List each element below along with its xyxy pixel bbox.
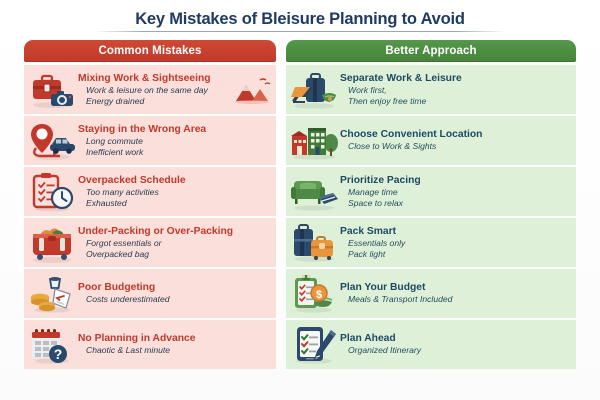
list-item-text: Overpacked Schedule Too many activities … [78,175,276,208]
list-item[interactable]: Plan Ahead Organized Itinerary [286,320,576,369]
list-item[interactable]: Choose Convenient Location Close to Work… [286,116,576,165]
sofa-book-icon [286,169,340,215]
list-item-sub: Costs underestimated [78,294,270,305]
list-item-sub: Manage time Space to relax [340,187,570,208]
list-item-title: Prioritize Pacing [340,175,570,187]
column-common-mistakes: Common Mistakes [24,40,276,371]
list-item[interactable]: Separate Work & Leisure Work first, Then… [286,65,576,114]
suitcase-deckchair-icon [286,67,340,113]
title-underline [95,31,505,32]
list-item-sub: Close to Work & Sights [340,141,570,152]
overstuffed-suitcase-icon [24,220,78,266]
list-item-text: Separate Work & Leisure Work first, Then… [340,73,576,106]
coins-receipt-icon [24,271,78,317]
list-item-text: No Planning in Advance Chaotic & Last mi… [78,333,276,356]
list-item[interactable]: Poor Budgeting Costs underestimated [24,269,276,318]
page-title-wrap: Key Mistakes of Bleisure Planning to Avo… [0,9,600,29]
list-item-text: Pack Smart Essentials only Pack light [340,226,576,259]
list-item-sub: Organized Itinerary [340,345,570,356]
list-item[interactable]: Overpacked Schedule Too many activities … [24,167,276,216]
svg-text:$: $ [316,289,322,301]
list-item-sub: Work & leisure on the same day Energy dr… [78,85,226,106]
list-item[interactable]: Pack Smart Essentials only Pack light [286,218,576,267]
list-item-title: Staying in the Wrong Area [78,124,270,136]
buildings-icon [286,118,340,164]
column-header-common-mistakes: Common Mistakes [24,40,276,62]
briefcase-camera-icon [24,67,78,113]
list-item-sub: Work first, Then enjoy free time [340,85,570,106]
list-item-title: Mixing Work & Sightseeing [78,73,226,85]
list-item-sub: Meals & Transport Included [340,294,570,305]
calendar-question-icon: ? [24,322,78,368]
clipboard-coin-icon: $ [286,271,340,317]
list-item[interactable]: Prioritize Pacing Manage time Space to r… [286,167,576,216]
list-item-title: Separate Work & Leisure [340,73,570,85]
list-item-title: No Planning in Advance [78,333,270,345]
clipboard-clock-icon [24,169,78,215]
list-item-sub: Chaotic & Last minute [78,345,270,356]
list-item[interactable]: Staying in the Wrong Area Long commute I… [24,116,276,165]
rows-better-approach: Separate Work & Leisure Work first, Then… [286,65,576,369]
column-header-better-approach: Better Approach [286,40,576,62]
svg-text:?: ? [54,346,63,362]
list-item-sub: Long commute Inefficient work [78,136,270,157]
infographic-canvas: Key Mistakes of Bleisure Planning to Avo… [0,0,600,400]
tablet-checklist-pen-icon [286,322,340,368]
list-item-title: Overpacked Schedule [78,175,270,187]
list-item-title: Poor Budgeting [78,282,270,294]
list-item-title: Plan Ahead [340,333,570,345]
list-item-sub: Too many activities Exhausted [78,187,270,208]
list-item[interactable]: Under-Packing or Over-Packing Forgot ess… [24,218,276,267]
list-item-title: Pack Smart [340,226,570,238]
list-item-text: Choose Convenient Location Close to Work… [340,129,576,152]
list-item-text: Under-Packing or Over-Packing Forgot ess… [78,226,276,259]
two-suitcases-icon [286,220,340,266]
page-title: Key Mistakes of Bleisure Planning to Avo… [135,9,465,29]
list-item-text: Poor Budgeting Costs underestimated [78,282,276,305]
map-pin-car-icon [24,118,78,164]
list-item-sub: Essentials only Pack light [340,238,570,259]
list-item-sub: Forgot essentials or Overpacked bag [78,238,270,259]
list-item-text: Staying in the Wrong Area Long commute I… [78,124,276,157]
column-better-approach: Better Approach [286,40,576,371]
list-item[interactable]: Mixing Work & Sightseeing Work & leisure… [24,65,276,114]
list-item[interactable]: ? No Planning in Advance Chaotic & Last … [24,320,276,369]
list-item-text: Plan Ahead Organized Itinerary [340,333,576,356]
list-item-text: Plan Your Budget Meals & Transport Inclu… [340,282,576,305]
list-item-title: Choose Convenient Location [340,129,570,141]
list-item[interactable]: $ Plan Your Budget Meals & Transport Inc… [286,269,576,318]
rows-common-mistakes: Mixing Work & Sightseeing Work & leisure… [24,65,276,369]
list-item-title: Plan Your Budget [340,282,570,294]
mountain-birds-icon [232,75,276,105]
list-item-title: Under-Packing or Over-Packing [78,226,270,238]
list-item-text: Mixing Work & Sightseeing Work & leisure… [78,73,232,106]
list-item-text: Prioritize Pacing Manage time Space to r… [340,175,576,208]
